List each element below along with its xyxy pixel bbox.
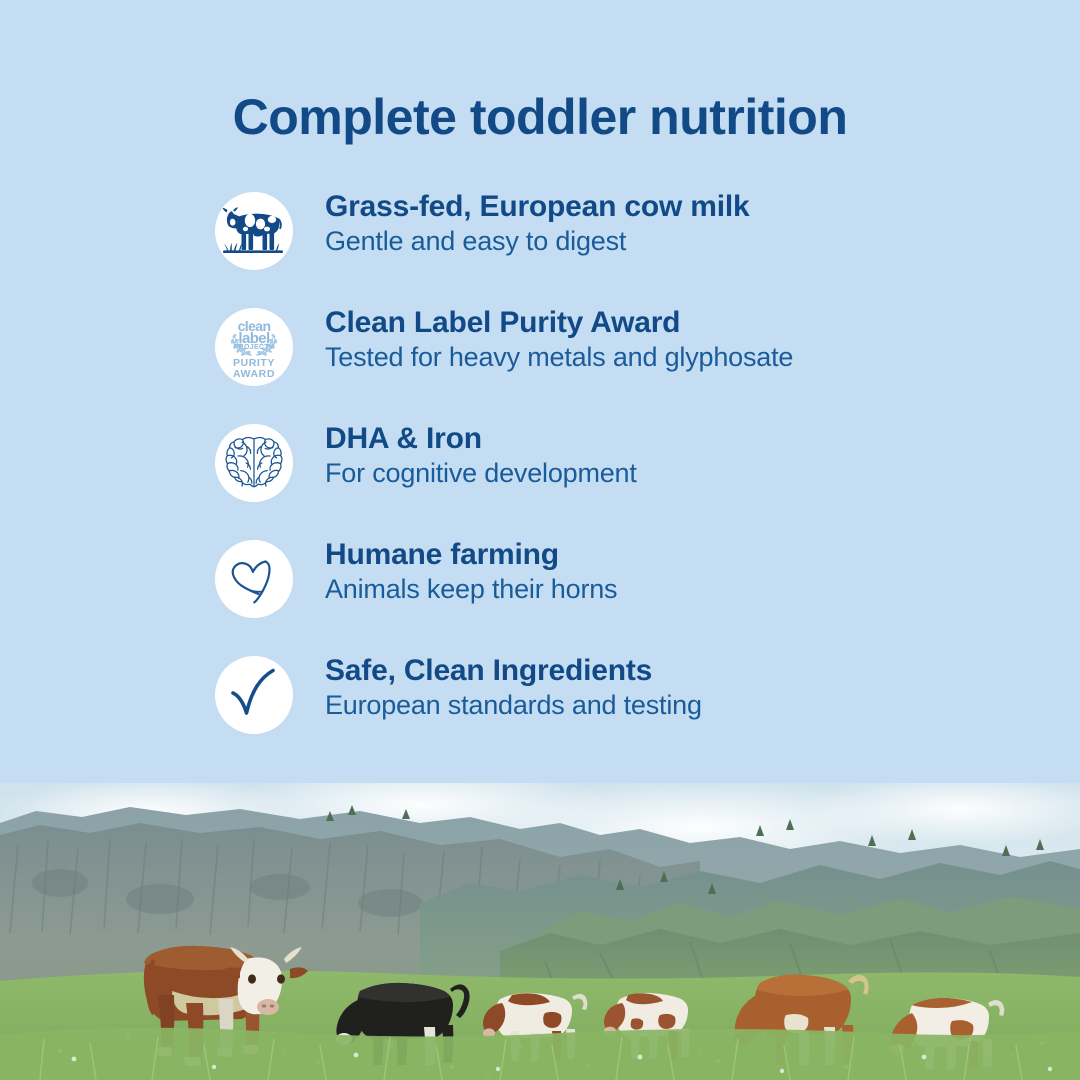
- feature-text: Humane farming Animals keep their horns: [325, 538, 985, 605]
- feature-title: Safe, Clean Ingredients: [325, 654, 985, 688]
- feature-title: Humane farming: [325, 538, 985, 572]
- grass-fed-cow-icon: [215, 192, 293, 270]
- brain-icon: [215, 424, 293, 502]
- promo-poster: Complete toddler nutrition: [0, 0, 1080, 1080]
- feature-subtitle: European standards and testing: [325, 690, 985, 722]
- feature-text: Grass-fed, European cow milk Gentle and …: [325, 190, 985, 257]
- badge-line-award: AWARD: [221, 368, 287, 380]
- feature-row: Safe, Clean Ingredients European standar…: [215, 656, 975, 772]
- feature-text: Clean Label Purity Award Tested for heav…: [325, 306, 985, 373]
- feature-row: Grass-fed, European cow milk Gentle and …: [215, 192, 975, 308]
- feature-subtitle: Animals keep their horns: [325, 574, 985, 606]
- feature-subtitle: Tested for heavy metals and glyphosate: [325, 342, 985, 374]
- feature-row: DHA & Iron For cognitive development: [215, 424, 975, 540]
- feature-row: clean label PROJECT® PURITY AWARD Clean …: [215, 308, 975, 424]
- checkmark-icon: [215, 656, 293, 734]
- feature-title: DHA & Iron: [325, 422, 985, 456]
- purity-award-badge: clean label PROJECT® PURITY AWARD: [221, 314, 287, 380]
- badge-line-project: PROJECT®: [221, 344, 287, 351]
- feature-text: Safe, Clean Ingredients European standar…: [325, 654, 985, 721]
- pasture-photo: [0, 783, 1080, 1080]
- feature-row: Humane farming Animals keep their horns: [215, 540, 975, 656]
- feature-subtitle: For cognitive development: [325, 458, 985, 490]
- feature-subtitle: Gentle and easy to digest: [325, 226, 985, 258]
- feature-list: Grass-fed, European cow milk Gentle and …: [215, 192, 975, 772]
- page-title: Complete toddler nutrition: [0, 88, 1080, 146]
- feature-title: Grass-fed, European cow milk: [325, 190, 985, 224]
- clean-label-purity-award-badge-icon: clean label PROJECT® PURITY AWARD: [215, 308, 293, 386]
- feature-text: DHA & Iron For cognitive development: [325, 422, 985, 489]
- feature-title: Clean Label Purity Award: [325, 306, 985, 340]
- heart-icon: [215, 540, 293, 618]
